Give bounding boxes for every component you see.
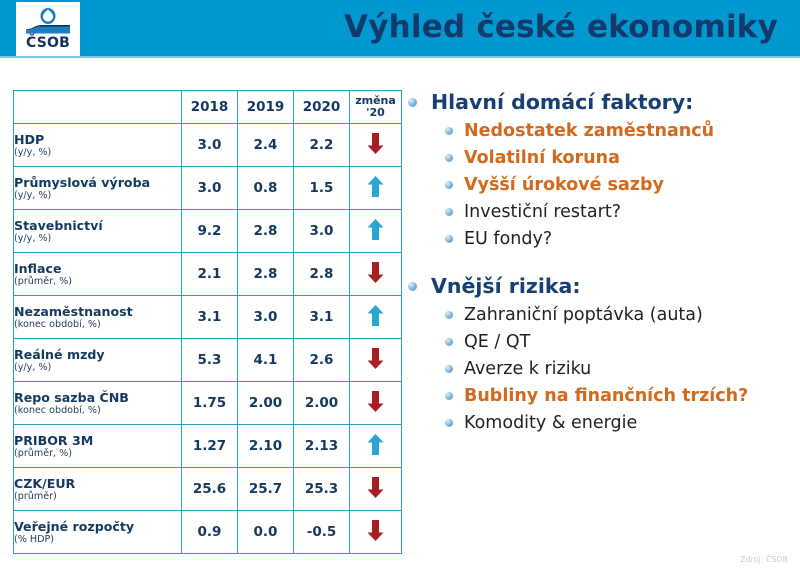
- list-item-label: Vyšší úrokové sazby: [464, 172, 664, 198]
- source-note: Zdroj: ČSOB: [740, 555, 788, 564]
- list-item-label: Komodity & energie: [464, 410, 637, 436]
- row-label-cell: CZK/EUR(průměr): [14, 468, 182, 511]
- cell-2019: 3.0: [238, 296, 294, 339]
- arrow-up-icon: [367, 176, 384, 197]
- table-header: 2018 2019 2020 změna '20: [14, 91, 402, 124]
- csob-logo: ČSOB: [16, 2, 80, 56]
- table-row: CZK/EUR(průměr)25.625.725.3: [14, 468, 402, 511]
- row-label: HDP: [14, 132, 181, 147]
- bullet-dot-icon: [408, 98, 417, 107]
- cell-change: [350, 339, 402, 382]
- row-label: PRIBOR 3M: [14, 433, 181, 448]
- list-item: Investiční restart?: [407, 199, 793, 225]
- row-label: Nezaměstnanost: [14, 304, 181, 319]
- bullet-dot-icon: [408, 282, 417, 291]
- bullet-dot-icon: [445, 365, 453, 373]
- table-row: HDP(y/y, %)3.02.42.2: [14, 124, 402, 167]
- table-row: Průmyslová výroba(y/y, %)3.00.81.5: [14, 167, 402, 210]
- cell-2020: 2.00: [294, 382, 350, 425]
- list-item-label: EU fondy?: [464, 226, 552, 252]
- row-label-cell: Reálné mzdy(y/y, %): [14, 339, 182, 382]
- column-header-2018: 2018: [182, 91, 238, 124]
- list-item: Averze k riziku: [407, 356, 793, 382]
- cell-2020: 3.0: [294, 210, 350, 253]
- cell-2018: 0.9: [182, 511, 238, 554]
- list-item-label: Nedostatek zaměstnanců: [464, 118, 714, 144]
- table-header-row: 2018 2019 2020 změna '20: [14, 91, 402, 124]
- list-item-label: Bubliny na finančních trzích?: [464, 383, 748, 409]
- row-label: Repo sazba ČNB: [14, 390, 181, 405]
- bullet-dot-icon: [445, 127, 453, 135]
- header-underline: [0, 56, 800, 58]
- list-item-label: Zahraniční poptávka (auta): [464, 302, 703, 328]
- list-item: Volatilní koruna: [407, 145, 793, 171]
- column-header-indicator: [14, 91, 182, 124]
- list-item: Vyšší úrokové sazby: [407, 172, 793, 198]
- arrow-down-icon: [367, 520, 384, 541]
- cell-2018: 9.2: [182, 210, 238, 253]
- arrow-down-icon: [367, 133, 384, 154]
- list-item-label: Investiční restart?: [464, 199, 621, 225]
- cell-2019: 2.10: [238, 425, 294, 468]
- row-sublabel: (konec období, %): [14, 405, 181, 417]
- bullet-dot-icon: [445, 181, 453, 189]
- list-item: Zahraniční poptávka (auta): [407, 302, 793, 328]
- cell-2020: 3.1: [294, 296, 350, 339]
- row-label: Průmyslová výroba: [14, 175, 181, 190]
- bullet-dot-icon: [445, 311, 453, 319]
- bullet-group-heading-row: Hlavní domácí faktory:: [407, 88, 793, 117]
- group-spacer: [407, 258, 793, 272]
- cell-2019: 0.8: [238, 167, 294, 210]
- row-label-cell: PRIBOR 3M(průměr, %): [14, 425, 182, 468]
- cell-change: [350, 296, 402, 339]
- row-label: Veřejné rozpočty: [14, 519, 181, 534]
- cell-2018: 3.1: [182, 296, 238, 339]
- bullet-group-heading: Vnější rizika:: [431, 272, 581, 301]
- list-item: Komodity & energie: [407, 410, 793, 436]
- row-sublabel: (y/y, %): [14, 233, 181, 245]
- forecast-table-container: 2018 2019 2020 změna '20 HDP(y/y, %)3.02…: [13, 90, 401, 554]
- cell-2018: 1.27: [182, 425, 238, 468]
- cell-change: [350, 511, 402, 554]
- row-label: CZK/EUR: [14, 476, 181, 491]
- row-sublabel: (% HDP): [14, 534, 181, 546]
- cell-2018: 3.0: [182, 124, 238, 167]
- row-sublabel: (průměr, %): [14, 448, 181, 460]
- cell-2020: 2.13: [294, 425, 350, 468]
- bullet-dot-icon: [445, 235, 453, 243]
- list-item-label: Averze k riziku: [464, 356, 591, 382]
- cell-change: [350, 253, 402, 296]
- row-label-cell: Stavebnictví(y/y, %): [14, 210, 182, 253]
- arrow-down-icon: [367, 391, 384, 412]
- cell-2019: 25.7: [238, 468, 294, 511]
- cell-2020: 1.5: [294, 167, 350, 210]
- row-label-cell: Veřejné rozpočty(% HDP): [14, 511, 182, 554]
- arrow-down-icon: [367, 477, 384, 498]
- bullet-dot-icon: [445, 208, 453, 216]
- arrow-down-icon: [367, 348, 384, 369]
- table-row: PRIBOR 3M(průměr, %)1.272.102.13: [14, 425, 402, 468]
- list-item-label: QE / QT: [464, 329, 530, 355]
- table-row: Reálné mzdy(y/y, %)5.34.12.6: [14, 339, 402, 382]
- cell-change: [350, 210, 402, 253]
- table-row: Nezaměstnanost(konec období, %)3.13.03.1: [14, 296, 402, 339]
- row-label: Stavebnictví: [14, 218, 181, 233]
- arrow-up-icon: [367, 305, 384, 326]
- row-label-cell: Repo sazba ČNB(konec období, %): [14, 382, 182, 425]
- row-label: Reálné mzdy: [14, 347, 181, 362]
- list-item: Nedostatek zaměstnanců: [407, 118, 793, 144]
- cell-change: [350, 382, 402, 425]
- cell-2019: 2.8: [238, 253, 294, 296]
- column-header-2019: 2019: [238, 91, 294, 124]
- cell-2019: 2.00: [238, 382, 294, 425]
- cell-2018: 5.3: [182, 339, 238, 382]
- column-header-change: změna '20: [350, 91, 402, 124]
- cell-2018: 3.0: [182, 167, 238, 210]
- row-label-cell: Průmyslová výroba(y/y, %): [14, 167, 182, 210]
- cell-2019: 2.4: [238, 124, 294, 167]
- row-sublabel: (průměr): [14, 491, 181, 503]
- bullet-dot-icon: [445, 419, 453, 427]
- bullet-group: Vnější rizika:Zahraniční poptávka (auta)…: [407, 272, 793, 436]
- bullet-group: Hlavní domácí faktory:Nedostatek zaměstn…: [407, 88, 793, 252]
- column-header-2020: 2020: [294, 91, 350, 124]
- cell-2020: 2.2: [294, 124, 350, 167]
- arrow-up-icon: [367, 219, 384, 240]
- cell-2018: 1.75: [182, 382, 238, 425]
- cell-change: [350, 468, 402, 511]
- arrow-up-icon: [367, 434, 384, 455]
- cell-2019: 0.0: [238, 511, 294, 554]
- list-item: Bubliny na finančních trzích?: [407, 383, 793, 409]
- table-row: Inflace(průměr, %)2.12.82.8: [14, 253, 402, 296]
- list-item: QE / QT: [407, 329, 793, 355]
- table-row: Veřejné rozpočty(% HDP)0.90.0-0.5: [14, 511, 402, 554]
- row-label: Inflace: [14, 261, 181, 276]
- row-label-cell: Nezaměstnanost(konec období, %): [14, 296, 182, 339]
- row-sublabel: (y/y, %): [14, 147, 181, 159]
- table-row: Stavebnictví(y/y, %)9.22.83.0: [14, 210, 402, 253]
- cell-change: [350, 124, 402, 167]
- cell-2018: 25.6: [182, 468, 238, 511]
- page-title: Výhled české ekonomiky: [344, 7, 778, 47]
- table-row: Repo sazba ČNB(konec období, %)1.752.002…: [14, 382, 402, 425]
- key-factors-list: Hlavní domácí faktory:Nedostatek zaměstn…: [407, 88, 793, 442]
- list-item: EU fondy?: [407, 226, 793, 252]
- column-header-change-line2: '20: [350, 107, 401, 120]
- cell-2019: 4.1: [238, 339, 294, 382]
- row-label-cell: HDP(y/y, %): [14, 124, 182, 167]
- row-sublabel: (y/y, %): [14, 362, 181, 374]
- cell-change: [350, 425, 402, 468]
- cell-2020: 25.3: [294, 468, 350, 511]
- table-body: HDP(y/y, %)3.02.42.2Průmyslová výroba(y/…: [14, 124, 402, 554]
- arrow-down-icon: [367, 262, 384, 283]
- bullet-group-heading-row: Vnější rizika:: [407, 272, 793, 301]
- row-sublabel: (průměr, %): [14, 276, 181, 288]
- bullet-dot-icon: [445, 154, 453, 162]
- bullet-dot-icon: [445, 338, 453, 346]
- list-item-label: Volatilní koruna: [464, 145, 620, 171]
- row-sublabel: (y/y, %): [14, 190, 181, 202]
- bullet-dot-icon: [445, 392, 453, 400]
- row-sublabel: (konec období, %): [14, 319, 181, 331]
- cell-2020: 2.6: [294, 339, 350, 382]
- csob-logo-text: ČSOB: [22, 36, 74, 50]
- row-label-cell: Inflace(průměr, %): [14, 253, 182, 296]
- cell-2020: 2.8: [294, 253, 350, 296]
- cell-2019: 2.8: [238, 210, 294, 253]
- cell-2020: -0.5: [294, 511, 350, 554]
- bullet-group-heading: Hlavní domácí faktory:: [431, 88, 693, 117]
- cell-2018: 2.1: [182, 253, 238, 296]
- forecast-table: 2018 2019 2020 změna '20 HDP(y/y, %)3.02…: [13, 90, 402, 554]
- cell-change: [350, 167, 402, 210]
